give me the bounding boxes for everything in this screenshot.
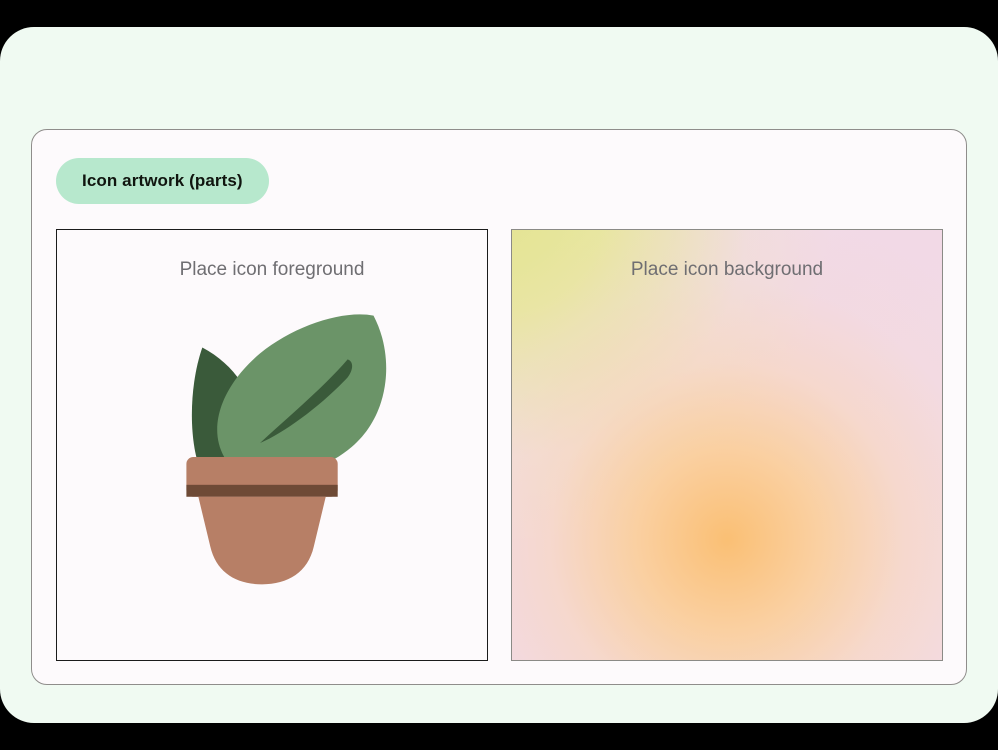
section-title-label: Icon artwork (parts) xyxy=(82,171,243,191)
pot-body-shape xyxy=(198,497,325,585)
leaf-front-shape xyxy=(217,314,386,474)
pot-stripe-shape xyxy=(186,485,337,497)
potted-plant-icon xyxy=(57,230,487,660)
artwork-card: Icon artwork (parts) Place icon foregrou… xyxy=(31,129,967,685)
outer-stage: Icon artwork (parts) Place icon foregrou… xyxy=(0,27,998,723)
icon-background-caption: Place icon background xyxy=(512,259,942,281)
section-title-badge: Icon artwork (parts) xyxy=(56,158,269,204)
icon-background-panel[interactable]: Place icon background xyxy=(511,229,943,661)
icon-foreground-panel[interactable]: Place icon foreground xyxy=(56,229,488,661)
